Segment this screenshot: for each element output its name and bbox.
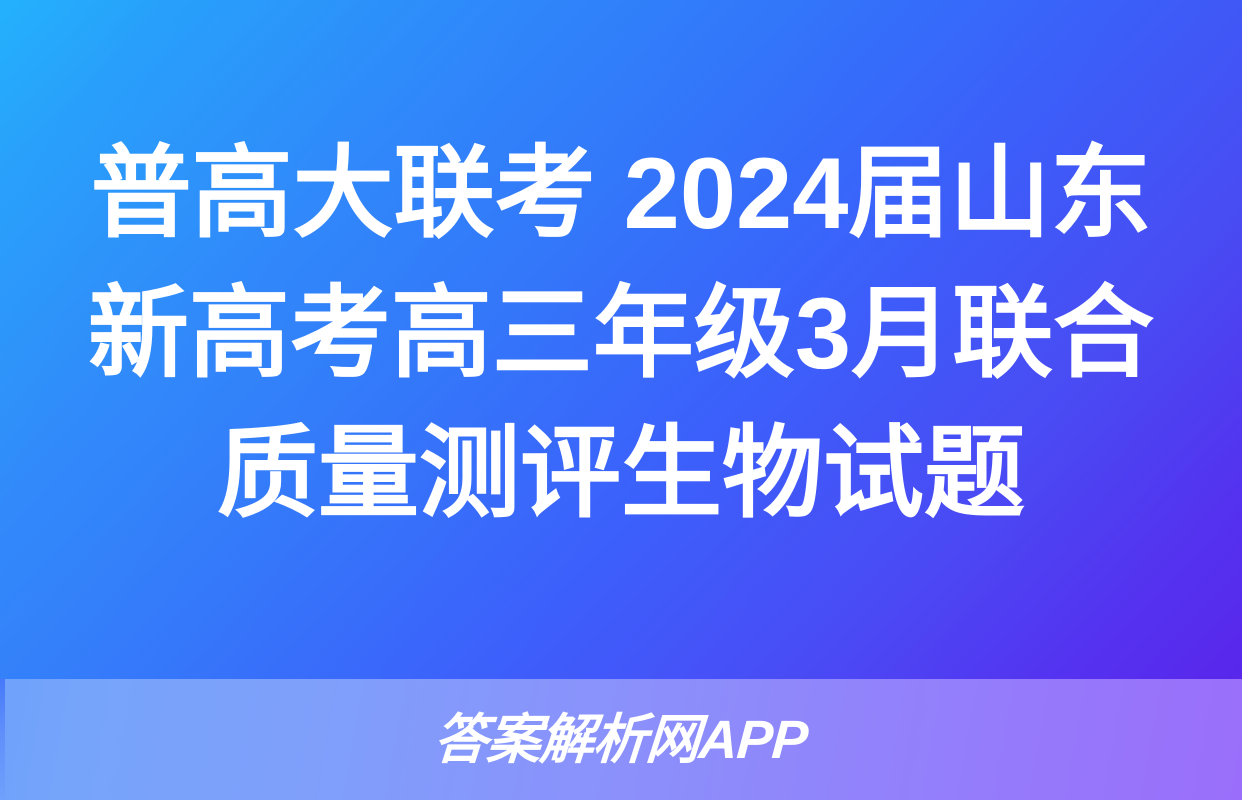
watermark-brand-label: 答案解析网APP bbox=[432, 710, 809, 770]
exam-title-line-1: 普高大联考 2024届山东 bbox=[76, 124, 1166, 264]
exam-cover-poster: 普高大联考 2024届山东 新高考高三年级3月联合 质量测评生物试题 答案解析网… bbox=[0, 0, 1242, 800]
exam-title-line-2: 新高考高三年级3月联合 bbox=[76, 264, 1166, 404]
exam-title-block: 普高大联考 2024届山东 新高考高三年级3月联合 质量测评生物试题 bbox=[76, 124, 1166, 544]
watermark-band: 答案解析网APP bbox=[0, 679, 1242, 800]
hero-gradient-panel: 普高大联考 2024届山东 新高考高三年级3月联合 质量测评生物试题 bbox=[0, 0, 1242, 679]
exam-title-line-3: 质量测评生物试题 bbox=[76, 404, 1166, 544]
